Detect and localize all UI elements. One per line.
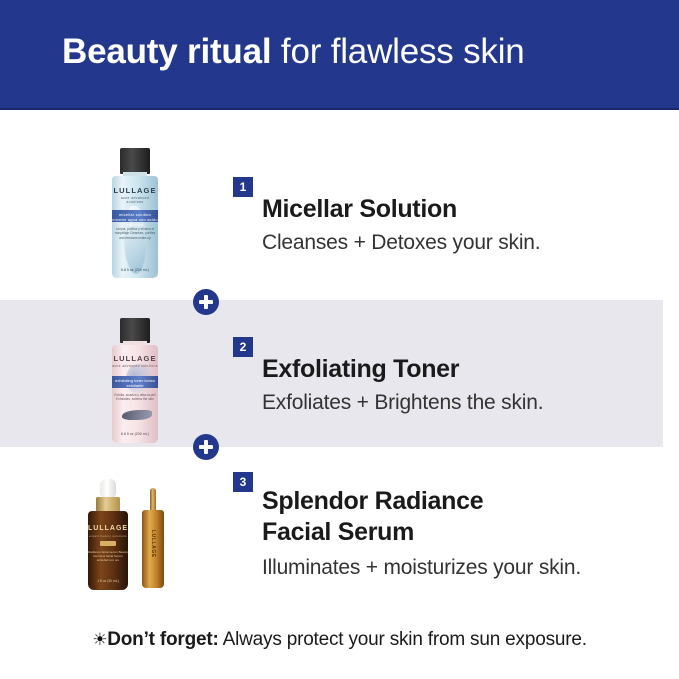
page-title: Beauty ritual for flawless skin xyxy=(62,30,525,74)
plus-icon xyxy=(193,434,219,460)
infographic-page: Beauty ritual for flawless skin LULLAGE … xyxy=(0,0,679,679)
page-title-strong: Beauty ritual xyxy=(62,32,271,71)
bottle-cap xyxy=(120,318,150,343)
product-label-text: exfoliating toner tonico exfoliante xyxy=(112,378,158,388)
header-banner: Beauty ritual for flawless skin xyxy=(0,0,679,110)
product-fine-print: Exfolia, suaviza y alisa la piel Exfolia… xyxy=(112,393,158,402)
step-title-2: Exfoliating Toner xyxy=(262,354,459,385)
product-image-micellar-solution: LULLAGE acne advanced solutions micellar… xyxy=(104,148,166,278)
step-badge-2: 2 xyxy=(233,337,253,357)
product-volume: 6.8 fl oz (200 mL) xyxy=(112,268,158,272)
product-image-exfoliating-toner: LULLAGE acne advanced solutions exfoliat… xyxy=(104,318,166,443)
step-badge-3: 3 xyxy=(233,472,253,492)
step-title-3: Splendor Radiance Facial Serum xyxy=(262,486,483,548)
footer-note-text: Always protect your skin from sun exposu… xyxy=(219,629,587,650)
product-brand-sub: acne advanced solutions xyxy=(112,364,158,368)
product-label-text: micellar solution micelar agua con acido… xyxy=(112,212,158,227)
ampoule-label: LULLAGE xyxy=(150,530,156,552)
product-brand: LULLAGE xyxy=(112,354,158,363)
product-brand: LULLAGE xyxy=(88,525,128,532)
step-title-1: Micellar Solution xyxy=(262,194,457,225)
plus-icon xyxy=(193,289,219,315)
sun-icon: ☀ xyxy=(92,630,107,649)
product-volume: 6.8 fl oz (200 mL) xyxy=(112,432,158,436)
bottle-cap xyxy=(120,148,150,174)
product-image-splendor-radiance-serum: LULLAGE expert beauty solutions Radiance… xyxy=(78,478,182,590)
product-brand-sub: acne advanced solutions xyxy=(112,196,158,204)
footer-note: ☀Don’t forget: Always protect your skin … xyxy=(0,627,679,653)
product-volume: 1 fl oz (30 mL) xyxy=(88,579,128,583)
page-title-light: for flawless skin xyxy=(271,32,524,71)
product-tag xyxy=(100,541,116,546)
step-badge-1: 1 xyxy=(233,177,253,197)
step-description-2: Exfoliates + Brightens the skin. xyxy=(262,390,543,416)
product-label-text: Radiance facial serum Beauty luminous fa… xyxy=(88,550,128,563)
dropper-collar xyxy=(96,497,120,512)
dropper-bulb xyxy=(100,478,116,498)
bottle-accent xyxy=(122,410,152,420)
step-description-3: Illuminates + moisturizes your skin. xyxy=(262,555,581,581)
step-description-1: Cleanses + Detoxes your skin. xyxy=(262,230,540,256)
product-brand-sub: expert beauty solutions xyxy=(88,534,128,538)
product-brand: LULLAGE xyxy=(112,186,158,195)
footer-note-bold: Don’t forget: xyxy=(107,629,218,650)
ampoule-neck xyxy=(150,488,156,512)
product-fine-print: Limpia, purifica y elimina el maquillaje… xyxy=(112,227,158,240)
